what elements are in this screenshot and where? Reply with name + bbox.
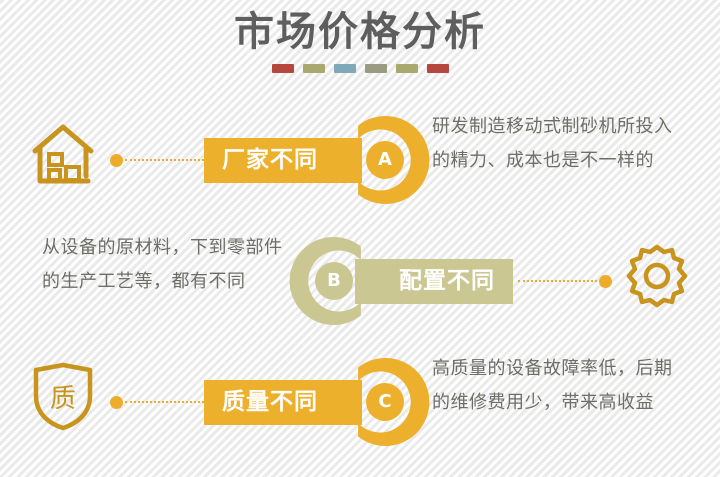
connector-a bbox=[110, 154, 206, 166]
badge-letter-c: C bbox=[378, 393, 391, 411]
dash-2 bbox=[303, 64, 325, 73]
banner-label-a: 厂家不同 bbox=[222, 138, 318, 183]
connector-c bbox=[110, 396, 206, 408]
infographic-root: 市场价格分析 厂家不同 bbox=[0, 0, 720, 477]
ring-c: C bbox=[338, 355, 432, 449]
connector-dot bbox=[599, 275, 612, 288]
section-row-a: 厂家不同 A 研发制造移动式制砂机所投入的精力、成本也是不一样的 bbox=[0, 100, 720, 220]
dash-4 bbox=[365, 64, 387, 73]
description-b: 从设备的原材料，下到零部件的生产工艺等，都有不同 bbox=[42, 231, 292, 299]
connector-b bbox=[516, 275, 612, 287]
dash-6 bbox=[427, 64, 449, 73]
page-title: 市场价格分析 bbox=[0, 0, 720, 56]
badge-letter-b: B bbox=[327, 272, 341, 290]
gear-icon bbox=[614, 233, 700, 319]
section-row-b: 从设备的原材料，下到零部件的生产工艺等，都有不同 B 配置不同 bbox=[0, 221, 720, 341]
badge-b: B bbox=[315, 262, 353, 300]
connector-line bbox=[125, 159, 204, 161]
dash-3 bbox=[334, 64, 356, 73]
badge-a: A bbox=[366, 141, 404, 179]
badge-c: C bbox=[366, 383, 404, 421]
decorative-dash-row bbox=[0, 64, 720, 73]
shield-quality-icon: 质 bbox=[20, 354, 106, 440]
badge-letter-a: A bbox=[378, 151, 392, 169]
dash-1 bbox=[272, 64, 294, 73]
banner-label-b: 配置不同 bbox=[399, 259, 495, 304]
section-row-c: 质 质量不同 C 高质量的设备故障率低，后期的维修费用少，带来高收益 bbox=[0, 342, 720, 462]
connector-line bbox=[518, 280, 597, 282]
description-c: 高质量的设备故障率低，后期的维修费用少，带来高收益 bbox=[432, 352, 682, 420]
description-a: 研发制造移动式制砂机所投入的精力、成本也是不一样的 bbox=[432, 110, 682, 178]
connector-dot bbox=[110, 396, 123, 409]
banner-bar-b: 配置不同 bbox=[355, 259, 513, 304]
ring-a: A bbox=[338, 113, 432, 207]
header: 市场价格分析 bbox=[0, 0, 720, 86]
connector-dot bbox=[110, 154, 123, 167]
dash-5 bbox=[396, 64, 418, 73]
factory-house-icon bbox=[20, 112, 106, 198]
svg-text:质: 质 bbox=[50, 384, 76, 414]
banner-label-c: 质量不同 bbox=[222, 380, 318, 425]
banner-b[interactable]: 配置不同 bbox=[355, 259, 513, 304]
connector-line bbox=[125, 401, 204, 403]
